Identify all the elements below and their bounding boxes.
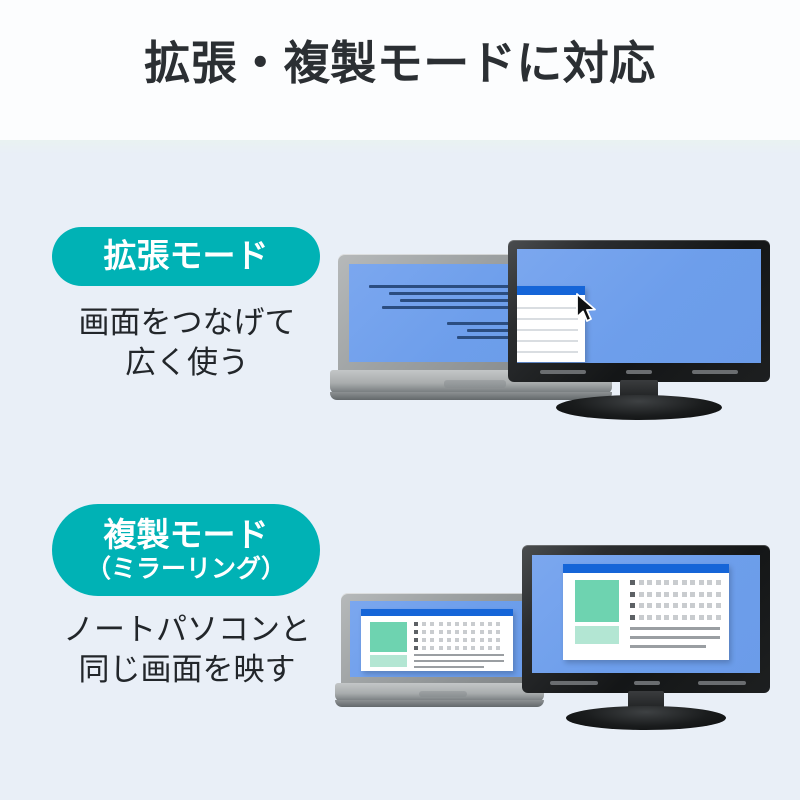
document-dot [707,603,712,608]
motion-line [389,292,521,295]
monitor-base [556,395,722,420]
document-dot [480,638,484,642]
illustration-mirror-mode [330,545,770,730]
document-dot [682,603,687,608]
document-dot [463,646,467,650]
document-dot [488,638,492,642]
document-dot [471,638,475,642]
document-dot [656,615,661,620]
document-dot [630,603,635,608]
document-window [563,564,729,660]
document-dot [647,592,652,597]
document-dot [673,592,678,597]
document-dot [664,592,669,597]
document-dot [699,615,704,620]
document-dot [463,630,467,634]
document-image-block [575,580,619,622]
document-dot [707,580,712,585]
document-dot [471,630,475,634]
document-dot [690,615,695,620]
document-dot [447,622,451,626]
document-dot [699,603,704,608]
document-dot [422,630,426,634]
document-dot [422,622,426,626]
document-dot [430,638,434,642]
monitor-control-mark [698,681,746,685]
document-rule [414,660,504,662]
document-dot [630,615,635,620]
window-text-line [517,318,578,320]
document-dot [716,580,721,585]
document-dot [630,592,635,597]
document-dot [439,630,443,634]
badge-extend-mode-label: 拡張モード [104,238,269,275]
window-text-line [517,340,578,342]
arrow-cursor-icon [575,293,597,323]
document-dot [439,622,443,626]
document-dot [690,603,695,608]
document-dot [647,615,652,620]
document-dot [480,630,484,634]
motion-line [382,306,522,309]
document-dot [690,580,695,585]
document-dot [664,615,669,620]
caption-mirror-line-2: 同じ画面を映す [42,650,332,690]
document-dot [414,630,418,634]
document-dot [414,646,418,650]
badge-mirror-mode-sublabel: （ミラーリング） [86,555,286,584]
caption-mirror-line-1: ノートパソコンと [42,610,332,650]
document-dot [639,603,644,608]
document-dot [630,580,635,585]
document-dot [656,592,661,597]
document-dot [716,592,721,597]
document-dot [414,638,418,642]
laptop-lid [341,593,537,685]
document-dot [430,646,434,650]
document-dot [707,615,712,620]
document-dot [471,622,475,626]
document-dot [496,630,500,634]
document-dot [682,580,687,585]
laptop-trackpad [419,691,467,697]
window-titlebar [361,609,513,616]
document-dot [647,603,652,608]
page-root: 拡張・複製モードに対応 拡張モード 画面をつなげて 広く使う [0,0,800,800]
document-rule [630,645,706,648]
monitor-extend [508,240,770,420]
monitor-screen [532,555,760,673]
document-rule [414,654,504,656]
monitor-screen [517,249,761,363]
document-dot [639,592,644,597]
document-dot [422,638,426,642]
document-dot [488,622,492,626]
document-dot [488,646,492,650]
caption-extend-line-1: 画面をつなげて [42,303,332,343]
page-title: 拡張・複製モードに対応 [0,36,800,91]
document-dot [496,638,500,642]
monitor-control-mark [692,370,738,374]
motion-line [369,285,517,288]
monitor-bezel [508,240,770,382]
document-window [361,609,513,671]
document-dot [455,630,459,634]
document-image-block-secondary [370,655,407,667]
caption-extend-line-2: 広く使う [42,343,332,383]
window-titlebar [563,564,729,573]
document-rule [414,666,484,668]
badge-extend-mode: 拡張モード [52,227,320,286]
badge-mirror-mode-label: 複製モード [104,517,269,554]
document-dot [414,622,418,626]
window-text-line [517,329,578,331]
document-dot [664,580,669,585]
document-dot [455,646,459,650]
document-dot [682,615,687,620]
monitor-control-mark [634,681,660,685]
document-dot [673,580,678,585]
document-dot [707,592,712,597]
document-dot [430,622,434,626]
document-dot [447,646,451,650]
document-dot [447,630,451,634]
badge-mirror-mode: 複製モード （ミラーリング） [52,504,320,596]
laptop-screen [350,601,528,677]
document-dot [496,622,500,626]
caption-extend-mode: 画面をつなげて 広く使う [42,303,332,384]
header-band: 拡張・複製モードに対応 [0,0,800,140]
document-dot [439,646,443,650]
caption-mirror-mode: ノートパソコンと 同じ画面を映す [42,610,332,691]
document-dot [639,615,644,620]
document-dot [455,622,459,626]
document-dot [699,580,704,585]
monitor-mirror [522,545,770,730]
document-image-block [370,622,407,652]
monitor-control-mark [550,681,598,685]
illustration-extend-mode [330,240,770,420]
document-dot [716,615,721,620]
document-dot [455,638,459,642]
document-rule [630,636,720,639]
monitor-base [566,706,726,730]
document-dot [673,615,678,620]
document-dot [656,580,661,585]
laptop-trackpad [444,380,506,388]
document-dot [673,603,678,608]
document-dot [430,630,434,634]
document-dot [647,580,652,585]
document-dot [471,646,475,650]
document-dot [439,638,443,642]
document-dot [716,603,721,608]
laptop-mirror [335,593,550,713]
monitor-control-mark [540,370,586,374]
document-dot [699,592,704,597]
window-text-line [517,307,578,309]
document-dot [447,638,451,642]
monitor-control-mark [626,370,652,374]
document-dot [690,592,695,597]
document-dot [664,603,669,608]
document-dot [656,603,661,608]
document-dot [463,638,467,642]
document-dot [480,622,484,626]
document-dot [488,630,492,634]
document-dot [639,580,644,585]
monitor-bezel [522,545,770,693]
document-rule [630,627,720,630]
document-image-block-secondary [575,626,619,644]
laptop-base-lip [335,700,544,707]
document-dot [480,646,484,650]
document-dot [463,622,467,626]
document-dot [422,646,426,650]
document-dot [496,646,500,650]
window-text-line [517,351,578,353]
motion-line [400,299,522,302]
document-dot [682,592,687,597]
